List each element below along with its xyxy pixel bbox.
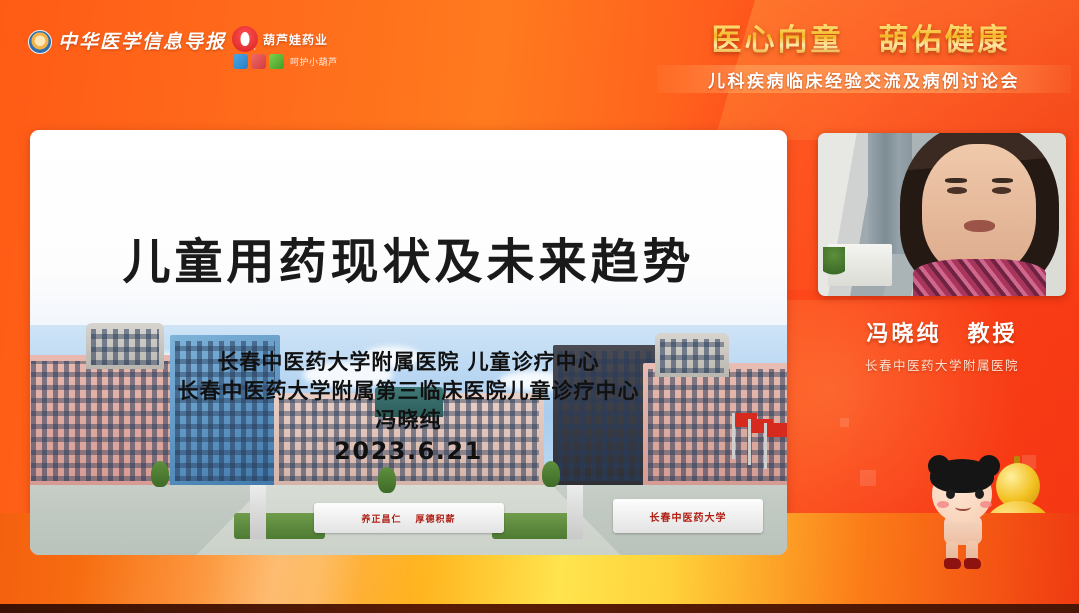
app-chip-icon [269, 54, 284, 69]
slide-subtitle-line-3: 冯晓纯 [30, 406, 787, 435]
speaker-mouth [964, 220, 995, 232]
mascot-cheek [980, 501, 992, 508]
stone-text-right: 厚德积薪 [416, 512, 456, 525]
logo-gourd-health-program: 葫芦娃药业 呵护小葫芦 [232, 26, 338, 69]
speaker-name: 冯晓纯 [866, 321, 941, 346]
campus-inscription-stone: 养正昌仁 厚德积薪 [314, 503, 504, 533]
mascot-boot [944, 558, 961, 569]
slide-date: 2023.6.21 [30, 435, 787, 468]
event-subtitle: 儿科疾病临床经验交流及病例讨论会 [708, 67, 1020, 92]
speaker-caption: 冯晓纯 教授 长春中医药大学附属医院 [818, 316, 1066, 374]
gate-pillar [250, 485, 266, 539]
stone-text-left: 养正昌仁 [361, 512, 401, 525]
mascot-mouth [955, 503, 971, 511]
campus-gate-sign: 长春中医药大学 [613, 499, 763, 533]
logo-gourd-top-row: 葫芦娃药业 [232, 26, 328, 52]
logo-gourd-bottom-row: 呵护小葫芦 [233, 54, 338, 69]
bottom-edge-strip [0, 604, 1079, 613]
speaker-eyebrow [945, 178, 967, 183]
speaker-webcam-tile[interactable] [818, 133, 1066, 296]
logo-china-medical-information-herald: 中华医学信息导报 导报 [28, 30, 257, 54]
speaker-organization: 长春中医药大学附属医院 [818, 355, 1066, 374]
event-title-left: 医心向童 [712, 24, 844, 57]
webinar-stream-stage: 中华医学信息导报 导报 葫芦娃药业 呵护小葫芦 医心向童 葫佑健康 儿科疾病临床… [0, 0, 1079, 613]
gate-pillar [567, 485, 583, 539]
logo-primary-text: 葫芦娃药业 [263, 31, 328, 48]
slide-title: 儿童用药现状及未来趋势 [30, 222, 787, 292]
decorative-square [860, 470, 876, 486]
speaker-name-row: 冯晓纯 教授 [818, 316, 1066, 348]
mascot-eye [975, 489, 984, 499]
event-banner: 医心向童 葫佑健康 儿科疾病临床经验交流及病例讨论会 [651, 8, 1071, 100]
app-chip-icon [233, 54, 248, 69]
gourd-badge-icon [232, 26, 258, 52]
mascot-leg [946, 541, 958, 567]
speaker-clothing [913, 259, 1046, 296]
gate-sign-text: 长春中医药大学 [650, 509, 727, 524]
webcam-speaker-figure [900, 133, 1059, 293]
slide-subtitle-line-1: 长春中医药大学附属医院 儿童诊疗中心 [30, 348, 787, 377]
slide-subtitle-line-2: 长春中医药大学附属第三临床医院儿童诊疗中心 [30, 377, 787, 406]
mascot-eye [946, 489, 955, 499]
tree [378, 467, 396, 493]
mascot-leg [966, 541, 978, 567]
decorative-square [840, 418, 849, 427]
speaker-face [922, 144, 1036, 276]
seal-emblem-icon [28, 30, 52, 54]
event-subtitle-band: 儿科疾病临床经验交流及病例讨论会 [657, 65, 1071, 93]
mascot-boot [964, 558, 981, 569]
event-title: 医心向童 葫佑健康 [651, 8, 1071, 57]
slide-subtitle-block: 长春中医药大学附属医院 儿童诊疗中心 长春中医药大学附属第三临床医院儿童诊疗中心… [30, 348, 787, 468]
mascot-hair [930, 459, 994, 493]
speaker-eye [992, 187, 1011, 194]
app-chip-icon [251, 54, 266, 69]
presentation-slide[interactable]: 养正昌仁 厚德积薪 长春中医药大学 儿童用药现状及未来趋势 长春中医药大学附属医… [30, 130, 787, 555]
webcam-plant [823, 247, 845, 280]
logo-secondary-text: 呵护小葫芦 [290, 55, 338, 68]
lawn [234, 513, 325, 539]
event-title-right: 葫佑健康 [879, 24, 1011, 57]
logo-primary-text: 中华医学信息导报 [58, 33, 226, 52]
speaker-eyebrow [992, 178, 1014, 183]
speaker-honorific: 教授 [968, 321, 1018, 346]
header-logo-bar: 中华医学信息导报 导报 葫芦娃药业 呵护小葫芦 [0, 0, 420, 95]
mascot-cheek [937, 501, 949, 508]
speaker-eye [947, 187, 966, 194]
